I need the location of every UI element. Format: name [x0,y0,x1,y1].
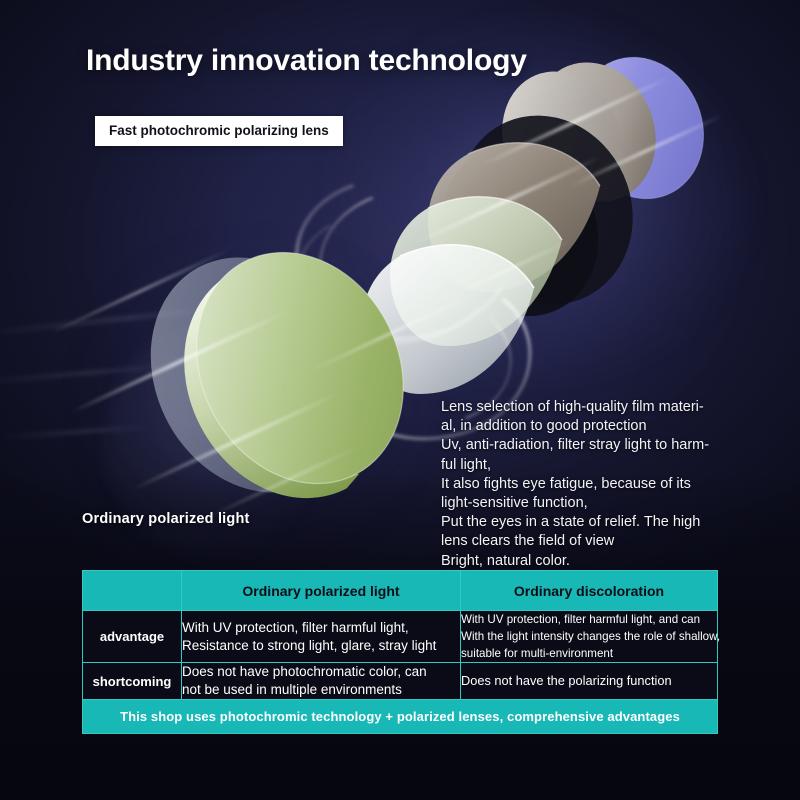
cell-line: Does not have the polarizing function [461,672,717,690]
table-header-ordinary-polarized: Ordinary polarized light [182,571,461,611]
row-label-advantage: advantage [83,611,182,663]
table-footer-banner: This shop uses photochromic technology +… [83,700,718,734]
description-line: Uv, anti-radiation, filter stray light t… [441,436,761,455]
table-header-ordinary-discoloration: Ordinary discoloration [461,571,718,611]
lens-caption-label: Ordinary polarized light [82,511,250,527]
description-line: ful light, [441,456,761,475]
poster-root: Industry innovation technology Fast phot… [0,0,800,800]
description-line: It also fights eye fatigue, because of i… [441,475,761,494]
comparison-table: Ordinary polarized light Ordinary discol… [82,570,718,734]
description-line: al, in addition to good protection [441,417,761,436]
row-label-shortcoming: shortcoming [83,663,182,700]
cell-line: suitable for multi-environment [461,645,717,662]
cell-line: With UV protection, filter harmful light… [182,619,460,637]
cell-line: With UV protection, filter harmful light… [461,611,717,628]
cell-line: With the light intensity changes the rol… [461,628,717,645]
description-line: Put the eyes in a state of relief. The h… [441,513,761,532]
description-line: lens clears the field of view [441,532,761,551]
cell-advantage-discoloration: With UV protection, filter harmful light… [461,611,718,663]
cell-shortcoming-discoloration: Does not have the polarizing function [461,663,718,700]
description-line: light-sensitive function, [441,494,761,513]
table-footer-row: This shop uses photochromic technology +… [83,700,718,734]
table-header-blank [83,571,182,611]
table-row: advantage With UV protection, filter har… [83,611,718,663]
description-line: Lens selection of high-quality film mate… [441,398,761,417]
table-row: shortcoming Does not have photochromatic… [83,663,718,700]
page-title: Industry innovation technology [86,44,527,78]
description-line: Bright, natural color. [441,552,761,571]
table-header-row: Ordinary polarized light Ordinary discol… [83,571,718,611]
cell-line: not be used in multiple environments [182,681,460,699]
subtitle-badge: Fast photochromic polarizing lens [95,116,343,146]
description-paragraph: Lens selection of high-quality film mate… [441,398,761,571]
cell-line: Resistance to strong light, glare, stray… [182,637,460,655]
cell-advantage-polarized: With UV protection, filter harmful light… [182,611,461,663]
cell-shortcoming-polarized: Does not have photochromatic color, can … [182,663,461,700]
cell-line: Does not have photochromatic color, can [182,663,460,681]
